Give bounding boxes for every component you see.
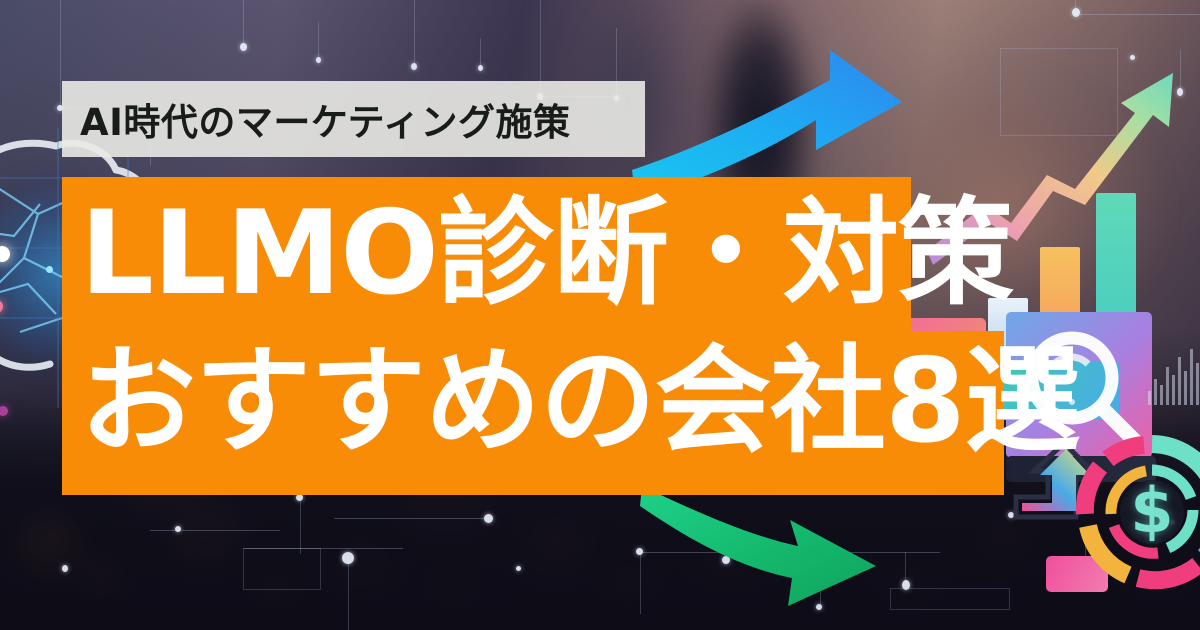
title-line-1: LLMO診断・対策 xyxy=(80,190,1013,318)
og-image-canvas: $ AI時代のマ xyxy=(0,0,1200,630)
subtitle-band: AI時代のマーケティング施策 xyxy=(62,81,645,157)
dollar-sign-icon: $ xyxy=(1117,475,1187,547)
title-line-2: おすすめの会社8選 xyxy=(80,338,1080,466)
mini-bar-chart-icon xyxy=(1148,345,1200,405)
green-curved-arrow-icon xyxy=(640,480,940,610)
subtitle-text: AI時代のマーケティング施策 xyxy=(80,92,570,146)
